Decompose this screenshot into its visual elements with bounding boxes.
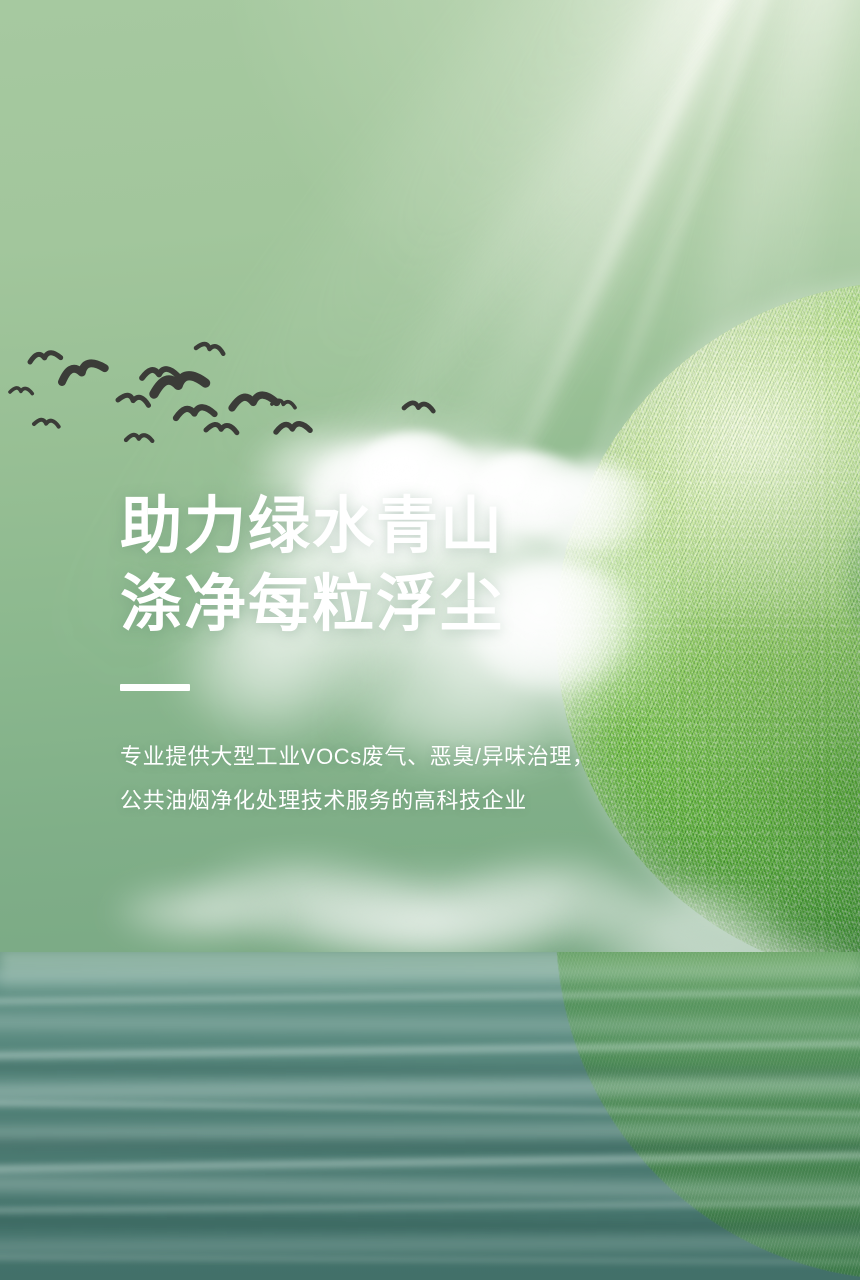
water-surface — [0, 952, 860, 1280]
subtitle-line-1: 专业提供大型工业VOCs废气、恶臭/异味治理， — [120, 735, 740, 779]
hero-copy-block: 助力绿水青山 涤净每粒浮尘 专业提供大型工业VOCs废气、恶臭/异味治理， 公共… — [120, 488, 740, 823]
title-divider — [120, 684, 190, 691]
headline-line-2: 涤净每粒浮尘 — [120, 566, 740, 644]
subtitle-line-2: 公共油烟净化处理技术服务的高科技企业 — [120, 779, 740, 823]
headline-line-1: 助力绿水青山 — [120, 488, 740, 566]
water-streak — [0, 1011, 860, 1038]
water-streak — [0, 1253, 860, 1266]
eco-marketing-poster: 助力绿水青山 涤净每粒浮尘 专业提供大型工业VOCs废气、恶臭/异味治理， 公共… — [0, 0, 860, 1280]
